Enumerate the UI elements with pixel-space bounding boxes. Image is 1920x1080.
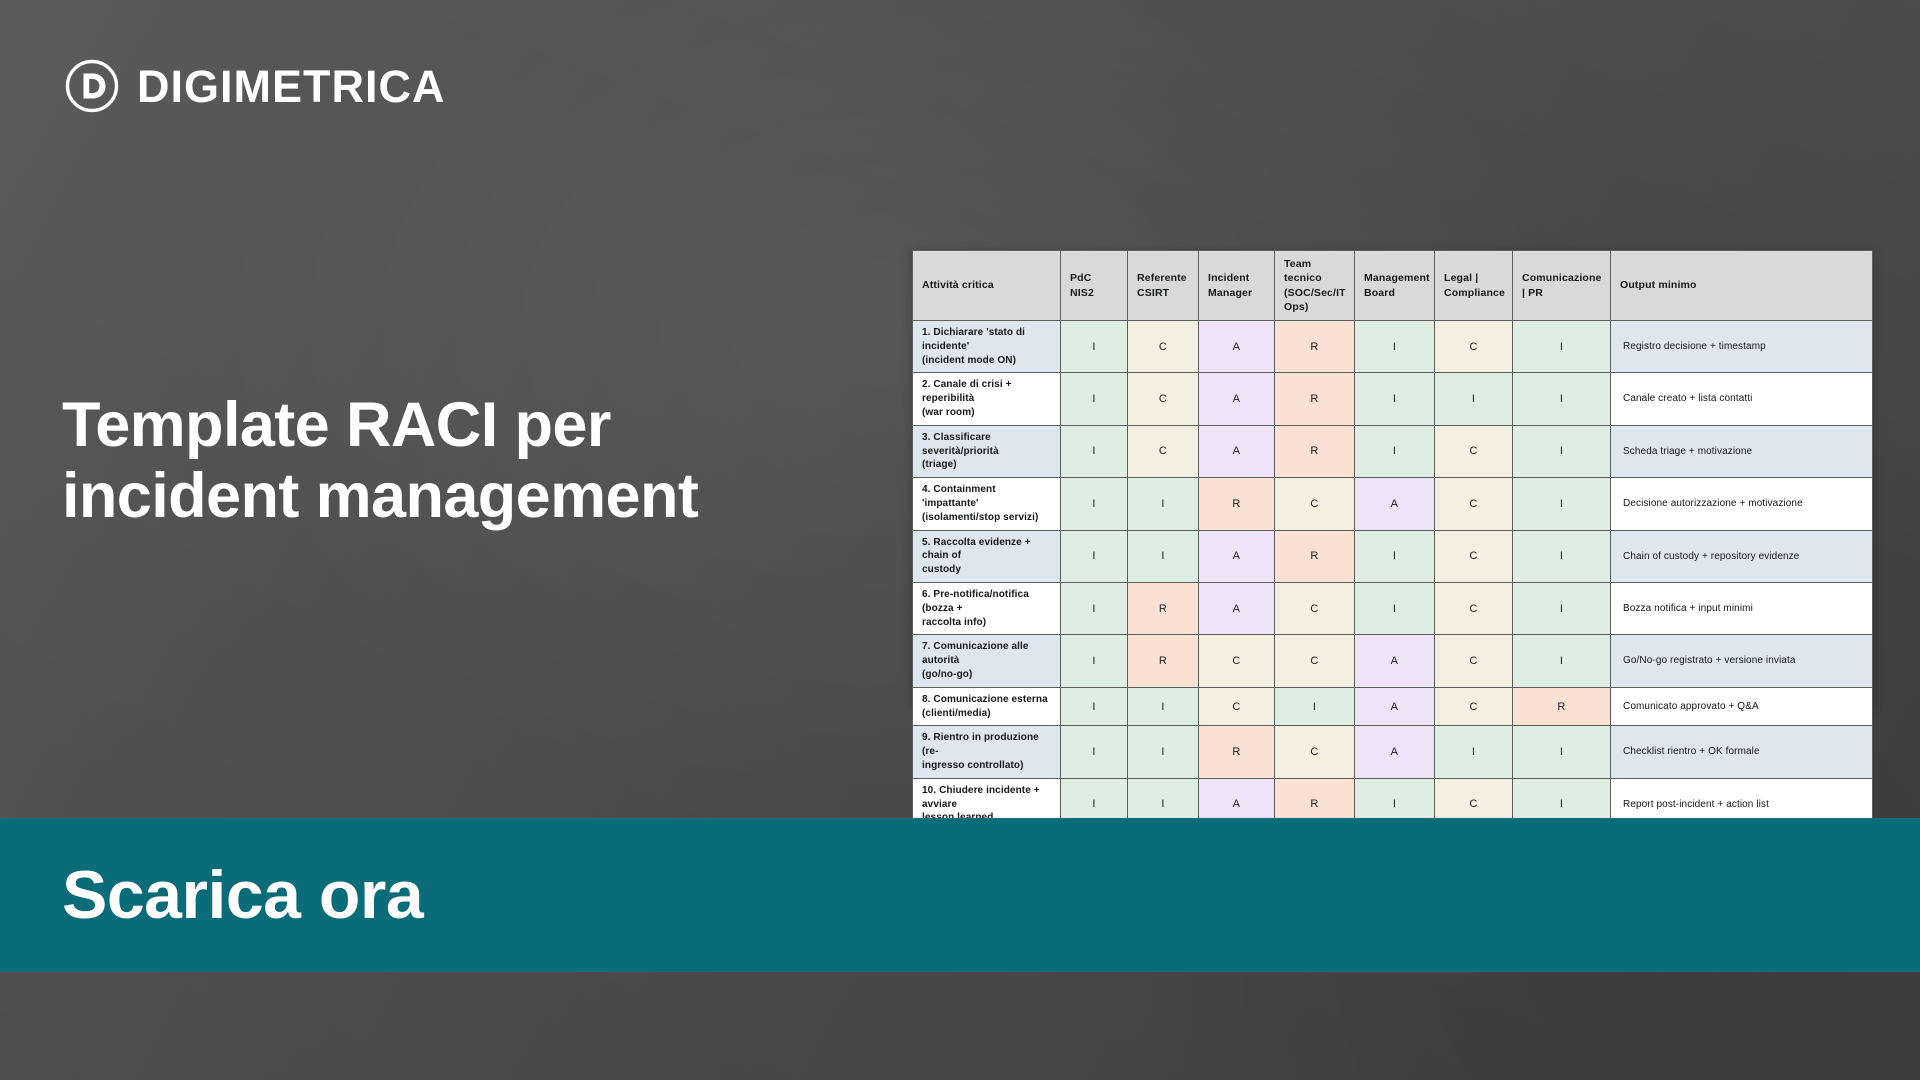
cell-team-tecnico: C xyxy=(1275,726,1355,778)
column-header-line: Output minimo xyxy=(1620,278,1863,292)
cell-pdc-nis2: I xyxy=(1061,687,1128,726)
cell-pdc-nis2: I xyxy=(1061,321,1128,373)
raci-table-body: 1. Dichiarare 'stato di incidente'(incid… xyxy=(913,321,1873,831)
cell-incident-manager: C xyxy=(1199,635,1275,687)
cell-incident-manager: R xyxy=(1199,726,1275,778)
cell-output-minimo: Comunicato approvato + Q&A xyxy=(1611,687,1873,726)
cell-referente-csirt: C xyxy=(1128,321,1199,373)
cell-incident-manager: A xyxy=(1199,425,1275,477)
activity-line: 7. Comunicazione alle autorità xyxy=(922,640,1051,668)
cell-legal-compliance: C xyxy=(1435,635,1513,687)
cell-legal-compliance: I xyxy=(1435,373,1513,425)
cell-comunicazione-pr: I xyxy=(1513,321,1611,373)
column-header-line: Ops) xyxy=(1284,300,1345,314)
cell-pdc-nis2: I xyxy=(1061,726,1128,778)
column-header-line: Board xyxy=(1364,286,1425,300)
column-header-referente-csirt: ReferenteCSIRT xyxy=(1128,251,1199,321)
activity-line: 8. Comunicazione esterna xyxy=(922,693,1051,707)
column-header-line: Incident xyxy=(1208,271,1265,285)
column-header-line: Legal | xyxy=(1444,271,1503,285)
activity-line: 2. Canale di crisi + reperibilità xyxy=(922,378,1051,406)
activity-line: 9. Rientro in produzione (re- xyxy=(922,731,1051,759)
table-row: 1. Dichiarare 'stato di incidente'(incid… xyxy=(913,321,1873,373)
cell-output-minimo: Registro decisione + timestamp xyxy=(1611,321,1873,373)
column-header-line: Team tecnico xyxy=(1284,257,1345,285)
cell-pdc-nis2: I xyxy=(1061,582,1128,634)
cell-legal-compliance: C xyxy=(1435,687,1513,726)
cell-attivita-critica: 8. Comunicazione esterna(clienti/media) xyxy=(913,687,1061,726)
cell-legal-compliance: C xyxy=(1435,321,1513,373)
cell-management-board: A xyxy=(1355,635,1435,687)
cell-legal-compliance: C xyxy=(1435,425,1513,477)
cell-referente-csirt: I xyxy=(1128,726,1199,778)
column-header-line: CSIRT xyxy=(1137,286,1189,300)
column-header-comunicazione-pr: Comunicazione | PR xyxy=(1513,251,1611,321)
cell-referente-csirt: C xyxy=(1128,373,1199,425)
cell-referente-csirt: R xyxy=(1128,635,1199,687)
circled-d-icon xyxy=(64,58,120,114)
cell-comunicazione-pr: I xyxy=(1513,635,1611,687)
cell-incident-manager: A xyxy=(1199,373,1275,425)
cell-comunicazione-pr: I xyxy=(1513,478,1611,530)
activity-line: 10. Chiudere incidente + avviare xyxy=(922,784,1051,812)
cell-legal-compliance: C xyxy=(1435,530,1513,582)
activity-line: raccolta info) xyxy=(922,616,1051,630)
column-header-output-minimo: Output minimo xyxy=(1611,251,1873,321)
cell-pdc-nis2: I xyxy=(1061,425,1128,477)
column-header-line: Manager xyxy=(1208,286,1265,300)
activity-line: 6. Pre-notifica/notifica (bozza + xyxy=(922,588,1051,616)
activity-line: 3. Classificare severità/priorità xyxy=(922,431,1051,459)
brand-wordmark: DIGIMETRICA xyxy=(137,64,446,109)
cell-team-tecnico: R xyxy=(1275,530,1355,582)
activity-line: (isolamenti/stop servizi) xyxy=(922,511,1051,525)
cell-output-minimo: Bozza notifica + input minimi xyxy=(1611,582,1873,634)
activity-line: ingresso controllato) xyxy=(922,759,1051,773)
cell-incident-manager: A xyxy=(1199,582,1275,634)
activity-line: (war room) xyxy=(922,406,1051,420)
cell-attivita-critica: 2. Canale di crisi + reperibilità(war ro… xyxy=(913,373,1061,425)
cell-output-minimo: Canale creato + lista contatti xyxy=(1611,373,1873,425)
cell-team-tecnico: C xyxy=(1275,478,1355,530)
cell-comunicazione-pr: I xyxy=(1513,726,1611,778)
page-title-line-2: incident management xyxy=(62,461,762,532)
activity-line: (triage) xyxy=(922,458,1051,472)
cell-legal-compliance: C xyxy=(1435,478,1513,530)
cell-team-tecnico: C xyxy=(1275,635,1355,687)
cell-output-minimo: Decisione autorizzazione + motivazione xyxy=(1611,478,1873,530)
cell-output-minimo: Checklist rientro + OK formale xyxy=(1611,726,1873,778)
cell-management-board: I xyxy=(1355,373,1435,425)
cell-referente-csirt: I xyxy=(1128,530,1199,582)
cell-team-tecnico: C xyxy=(1275,582,1355,634)
cell-attivita-critica: 5. Raccolta evidenze + chain ofcustody xyxy=(913,530,1061,582)
activity-line: (incident mode ON) xyxy=(922,354,1051,368)
cell-management-board: I xyxy=(1355,425,1435,477)
page-title-line-1: Template RACI per xyxy=(62,390,762,461)
cell-comunicazione-pr: R xyxy=(1513,687,1611,726)
cta-label: Scarica ora xyxy=(62,861,423,929)
column-header-line: Attività critica xyxy=(922,278,1051,292)
cta-band[interactable]: Scarica ora xyxy=(0,818,1920,972)
cell-management-board: I xyxy=(1355,321,1435,373)
cell-team-tecnico: I xyxy=(1275,687,1355,726)
activity-line: (go/no-go) xyxy=(922,668,1051,682)
column-header-line: Referente xyxy=(1137,271,1189,285)
cell-output-minimo: Scheda triage + motivazione xyxy=(1611,425,1873,477)
cell-incident-manager: A xyxy=(1199,530,1275,582)
cell-referente-csirt: C xyxy=(1128,425,1199,477)
activity-line: custody xyxy=(922,563,1051,577)
column-header-team-tecnico: Team tecnico(SOC/Sec/ITOps) xyxy=(1275,251,1355,321)
cell-pdc-nis2: I xyxy=(1061,635,1128,687)
brand-logo: DIGIMETRICA xyxy=(64,58,446,114)
page-title: Template RACI per incident management xyxy=(62,390,762,531)
cell-referente-csirt: I xyxy=(1128,687,1199,726)
cell-team-tecnico: R xyxy=(1275,373,1355,425)
column-header-line: PdC NIS2 xyxy=(1070,271,1118,299)
activity-line: 5. Raccolta evidenze + chain of xyxy=(922,536,1051,564)
cell-attivita-critica: 9. Rientro in produzione (re-ingresso co… xyxy=(913,726,1061,778)
table-row: 4. Containment 'impattante'(isolamenti/s… xyxy=(913,478,1873,530)
table-row: 6. Pre-notifica/notifica (bozza +raccolt… xyxy=(913,582,1873,634)
column-header-line: (SOC/Sec/IT xyxy=(1284,286,1345,300)
cell-attivita-critica: 6. Pre-notifica/notifica (bozza +raccolt… xyxy=(913,582,1061,634)
cell-attivita-critica: 3. Classificare severità/priorità(triage… xyxy=(913,425,1061,477)
cell-output-minimo: Chain of custody + repository evidenze xyxy=(1611,530,1873,582)
raci-table: Attività critica PdC NIS2 ReferenteCSIRT… xyxy=(912,250,1873,831)
table-row: 5. Raccolta evidenze + chain ofcustodyII… xyxy=(913,530,1873,582)
cell-incident-manager: C xyxy=(1199,687,1275,726)
cell-management-board: I xyxy=(1355,530,1435,582)
column-header-incident-manager: IncidentManager xyxy=(1199,251,1275,321)
column-header-line: Management xyxy=(1364,271,1425,285)
cell-output-minimo: Go/No-go registrato + versione inviata xyxy=(1611,635,1873,687)
cell-incident-manager: R xyxy=(1199,478,1275,530)
cell-pdc-nis2: I xyxy=(1061,373,1128,425)
table-row: 8. Comunicazione esterna(clienti/media)I… xyxy=(913,687,1873,726)
raci-table-container: Attività critica PdC NIS2 ReferenteCSIRT… xyxy=(912,250,1872,705)
cell-attivita-critica: 4. Containment 'impattante'(isolamenti/s… xyxy=(913,478,1061,530)
cell-comunicazione-pr: I xyxy=(1513,530,1611,582)
table-row: 3. Classificare severità/priorità(triage… xyxy=(913,425,1873,477)
column-header-line: Comunicazione | PR xyxy=(1522,271,1601,299)
cell-management-board: I xyxy=(1355,582,1435,634)
column-header-management-board: ManagementBoard xyxy=(1355,251,1435,321)
cell-management-board: A xyxy=(1355,687,1435,726)
column-header-line: Compliance xyxy=(1444,286,1503,300)
cell-pdc-nis2: I xyxy=(1061,530,1128,582)
cell-management-board: A xyxy=(1355,478,1435,530)
cell-legal-compliance: C xyxy=(1435,582,1513,634)
cell-referente-csirt: I xyxy=(1128,478,1199,530)
table-row: 7. Comunicazione alle autorità(go/no-go)… xyxy=(913,635,1873,687)
cell-attivita-critica: 7. Comunicazione alle autorità(go/no-go) xyxy=(913,635,1061,687)
cell-attivita-critica: 1. Dichiarare 'stato di incidente'(incid… xyxy=(913,321,1061,373)
activity-line: 4. Containment 'impattante' xyxy=(922,483,1051,511)
cell-pdc-nis2: I xyxy=(1061,478,1128,530)
table-row: 2. Canale di crisi + reperibilità(war ro… xyxy=(913,373,1873,425)
activity-line: 1. Dichiarare 'stato di incidente' xyxy=(922,326,1051,354)
cell-comunicazione-pr: I xyxy=(1513,373,1611,425)
cell-team-tecnico: R xyxy=(1275,425,1355,477)
cell-management-board: A xyxy=(1355,726,1435,778)
column-header-attivita-critica: Attività critica xyxy=(913,251,1061,321)
column-header-pdc-nis2: PdC NIS2 xyxy=(1061,251,1128,321)
cell-comunicazione-pr: I xyxy=(1513,425,1611,477)
raci-table-head: Attività critica PdC NIS2 ReferenteCSIRT… xyxy=(913,251,1873,321)
table-row: 9. Rientro in produzione (re-ingresso co… xyxy=(913,726,1873,778)
column-header-legal-compliance: Legal |Compliance xyxy=(1435,251,1513,321)
cell-legal-compliance: I xyxy=(1435,726,1513,778)
cell-incident-manager: A xyxy=(1199,321,1275,373)
cell-comunicazione-pr: I xyxy=(1513,582,1611,634)
cell-team-tecnico: R xyxy=(1275,321,1355,373)
table-header-row: Attività critica PdC NIS2 ReferenteCSIRT… xyxy=(913,251,1873,321)
activity-line: (clienti/media) xyxy=(922,707,1051,721)
cell-referente-csirt: R xyxy=(1128,582,1199,634)
